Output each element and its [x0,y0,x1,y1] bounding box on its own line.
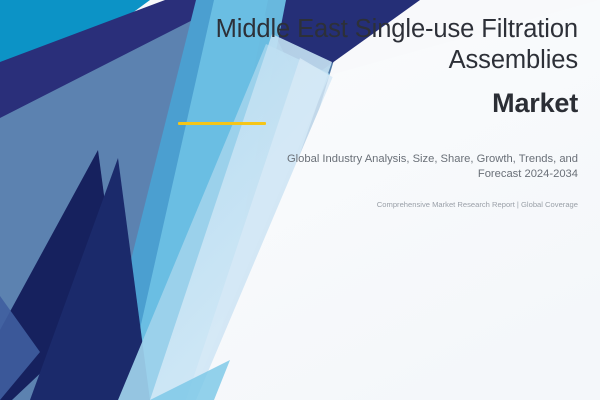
report-cover: Middle East Single-use Filtration Assemb… [0,0,600,400]
emphasis-word: Market [492,88,578,118]
report-subtitle: Global Industry Analysis, Size, Share, G… [248,152,578,182]
accent-underline [178,122,266,125]
report-caption: Comprehensive Market Research Report | G… [248,199,578,210]
subtitle-block: Global Industry Analysis, Size, Share, G… [248,152,578,210]
cover-text-layer: Middle East Single-use Filtration Assemb… [0,0,600,400]
emphasis-word-wrapper: Market [178,88,578,125]
title-block: Middle East Single-use Filtration Assemb… [178,14,578,125]
page-title: Middle East Single-use Filtration Assemb… [178,14,578,76]
